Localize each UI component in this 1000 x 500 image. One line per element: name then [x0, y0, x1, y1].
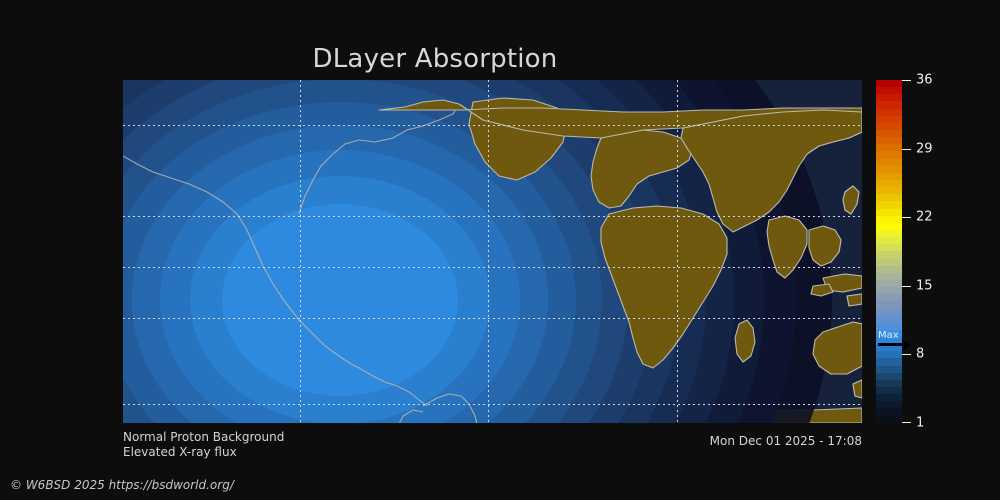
colorbar-segment	[876, 151, 902, 158]
colorbar-segment	[876, 137, 902, 144]
colorbar-segment	[876, 244, 902, 251]
colorbar-segment	[876, 266, 902, 273]
colorbar-segment	[876, 373, 902, 380]
xray-status-text: Elevated X-ray flux	[123, 445, 237, 459]
colorbar-segment	[876, 301, 902, 308]
colorbar-segment	[876, 273, 902, 280]
colorbar-segment	[876, 323, 902, 330]
colorbar-segment	[876, 230, 902, 237]
colorbar-segment	[876, 416, 902, 423]
colorbar-segment	[876, 80, 902, 87]
colorbar-segment	[876, 216, 902, 223]
colorbar-segment	[876, 358, 902, 365]
colorbar-axis-label: Affected Frequency (MHz)	[929, 80, 1000, 423]
colorbar-segment	[876, 294, 902, 301]
colorbar-segment	[876, 123, 902, 130]
map-canvas	[123, 80, 862, 423]
colorbar-tick	[902, 217, 911, 218]
colorbar-segment	[876, 166, 902, 173]
world-map[interactable]	[123, 80, 862, 423]
proton-status-text: Normal Proton Background	[123, 430, 284, 444]
colorbar-tick	[902, 354, 911, 355]
colorbar-segment	[876, 316, 902, 323]
colorbar-segment	[876, 380, 902, 387]
colorbar-segment	[876, 259, 902, 266]
colorbar-segment	[876, 280, 902, 287]
colorbar-segment	[876, 173, 902, 180]
colorbar-segment	[876, 130, 902, 137]
app-root: DLayer Absorption	[0, 0, 1000, 500]
absorption-band	[222, 204, 458, 396]
colorbar-segment	[876, 237, 902, 244]
timestamp-label: Mon Dec 01 2025 - 17:08	[600, 434, 862, 448]
colorbar-segment	[876, 309, 902, 316]
colorbar-segment	[876, 194, 902, 201]
colorbar-segment	[876, 109, 902, 116]
colorbar-segment	[876, 94, 902, 101]
page-title: DLayer Absorption	[0, 44, 870, 74]
colorbar-tick-label: 1	[916, 416, 924, 431]
colorbar-tick	[902, 149, 911, 150]
colorbar-tick	[902, 80, 911, 81]
max-marker-arrow	[878, 343, 904, 346]
copyright-label: © W6BSD 2025 https://bsdworld.org/	[10, 478, 234, 492]
colorbar-tick	[902, 286, 911, 287]
colorbar-tick-label: 8	[916, 347, 924, 362]
colorbar-segment	[876, 101, 902, 108]
colorbar-segment	[876, 159, 902, 166]
colorbar-segment	[876, 366, 902, 373]
colorbar-segment	[876, 187, 902, 194]
colorbar-segment	[876, 180, 902, 187]
colorbar-segment	[876, 144, 902, 151]
colorbar[interactable]	[876, 80, 902, 423]
colorbar-segment	[876, 394, 902, 401]
max-marker-label: Max	[878, 330, 899, 341]
colorbar-segment	[876, 201, 902, 208]
colorbar-segment	[876, 251, 902, 258]
colorbar-segment	[876, 287, 902, 294]
colorbar-tick	[902, 422, 911, 423]
colorbar-segment	[876, 223, 902, 230]
colorbar-segment	[876, 387, 902, 394]
colorbar-segment	[876, 408, 902, 415]
colorbar-segment	[876, 401, 902, 408]
colorbar-segment	[876, 209, 902, 216]
colorbar-segment	[876, 87, 902, 94]
colorbar-segment	[876, 116, 902, 123]
